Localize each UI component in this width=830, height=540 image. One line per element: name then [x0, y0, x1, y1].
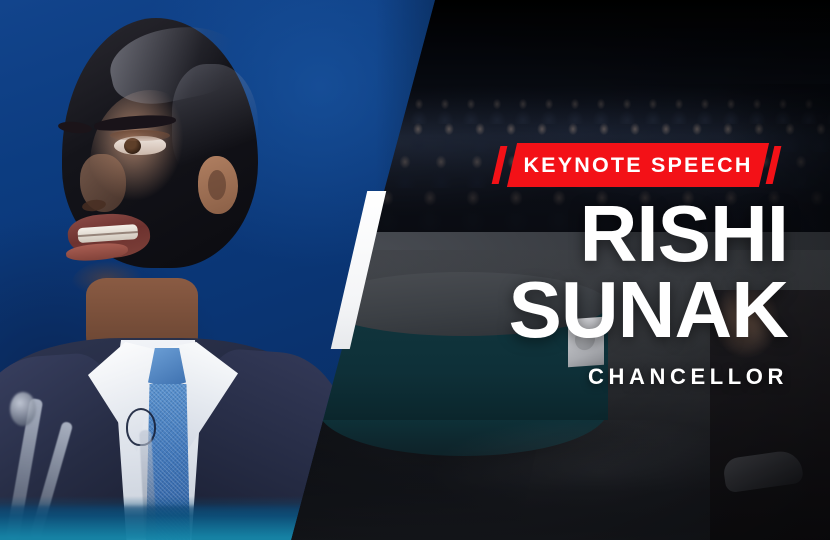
microphone-head — [10, 392, 36, 426]
title-line-first: RISHI — [268, 196, 788, 272]
hair-side-highlight — [172, 64, 258, 184]
title-line-second: SUNAK — [268, 272, 788, 348]
title-block: RISHI SUNAK CHANCELLOR — [268, 196, 788, 390]
teeth — [77, 224, 138, 243]
keynote-banner: KEYNOTE SPEECH — [492, 143, 782, 187]
tie-knot — [148, 348, 186, 388]
banner-accent-slash-left — [492, 146, 508, 184]
title-card-graphic: KEYNOTE SPEECH RISHI SUNAK CHANCELLOR — [0, 0, 830, 540]
speaker-head — [52, 18, 264, 318]
banner-accent-slash-right — [766, 146, 782, 184]
subtitle-role: CHANCELLOR — [268, 364, 788, 390]
eyelid — [110, 130, 170, 141]
banner-label: KEYNOTE SPEECH — [512, 143, 764, 187]
